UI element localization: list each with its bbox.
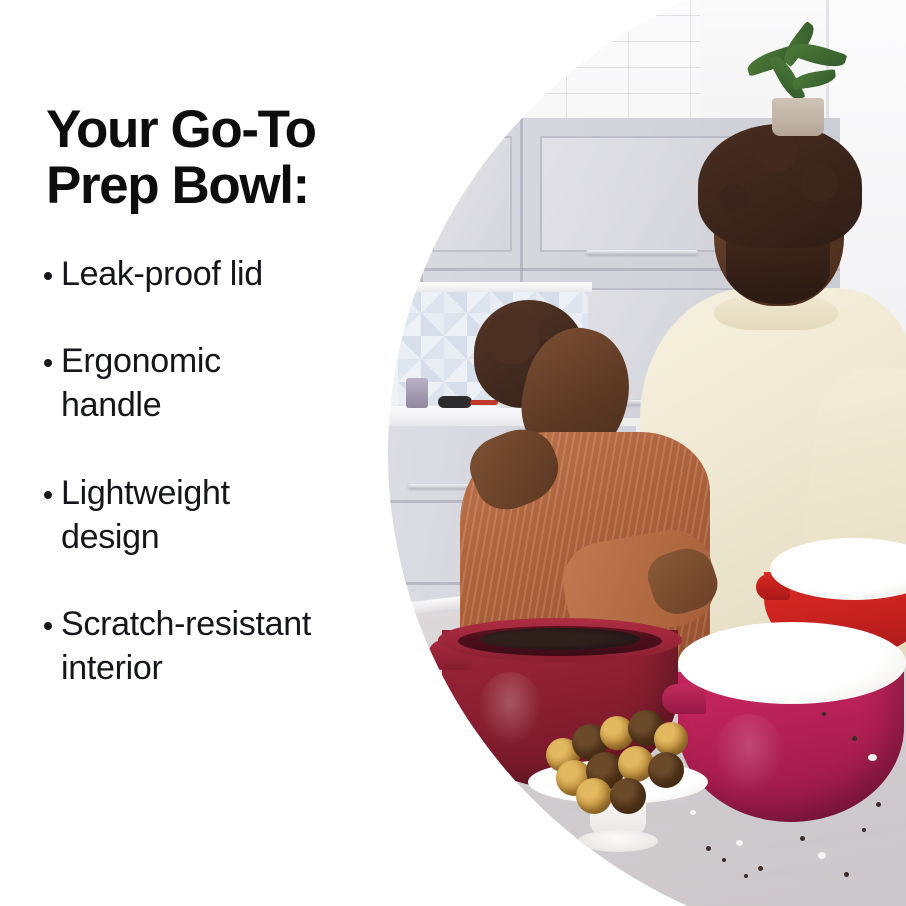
crumb: [744, 874, 748, 878]
plant-pot: [772, 98, 824, 136]
cake-stand-foot: [578, 830, 658, 852]
feature-label: Leak-proof lid: [61, 252, 263, 296]
energy-ball: [610, 778, 646, 814]
list-item: Leak-proof lid: [44, 252, 396, 296]
feature-list: Leak-proof lid Ergonomic handle Lightwei…: [44, 252, 396, 690]
bullet-dot-icon: [44, 491, 52, 499]
feature-label: Lightweight design: [61, 471, 293, 559]
backsplash-trim: [396, 282, 592, 292]
bullet-dot-icon: [44, 622, 52, 630]
headline-line-1: Your Go-To: [46, 100, 316, 159]
crumb: [868, 754, 877, 761]
energy-ball: [648, 752, 684, 788]
crumb: [876, 802, 881, 807]
crumb: [690, 810, 696, 815]
bowl-highlight: [714, 714, 784, 794]
crumb: [736, 840, 743, 846]
crumb: [722, 858, 726, 862]
crumb: [800, 836, 805, 841]
chocolate-mixture: [480, 628, 640, 650]
crumb: [818, 852, 826, 859]
list-item: Lightweight design: [44, 471, 396, 559]
cabinet-panel: [432, 136, 512, 252]
list-item: Scratch-resistant interior: [44, 602, 396, 690]
bullet-dot-icon: [44, 272, 52, 280]
page-title: Your Go-To Prep Bowl:: [46, 102, 376, 214]
man-hair: [698, 124, 862, 248]
magenta-bowl-lid: [678, 622, 906, 704]
feature-label: Ergonomic handle: [61, 339, 276, 427]
bullet-dot-icon: [44, 359, 52, 367]
energy-ball: [654, 722, 688, 756]
ad-canvas: Your Go-To Prep Bowl: Leak-proof lid Erg…: [0, 0, 906, 906]
crumb: [844, 872, 849, 877]
magenta-bowl-handle: [662, 684, 706, 714]
crumb: [862, 828, 866, 832]
bowl-highlight: [478, 672, 542, 746]
counter-jar: [406, 378, 428, 408]
copy-column: Your Go-To Prep Bowl: Leak-proof lid Erg…: [0, 0, 400, 906]
crumb: [758, 866, 763, 871]
feature-label: Scratch-resistant interior: [61, 602, 391, 690]
list-item: Ergonomic handle: [44, 339, 396, 427]
crumb: [822, 712, 826, 716]
crumb: [852, 736, 857, 741]
energy-ball: [576, 778, 612, 814]
crumb: [706, 846, 711, 851]
headline-line-2: Prep Bowl:: [46, 158, 376, 214]
